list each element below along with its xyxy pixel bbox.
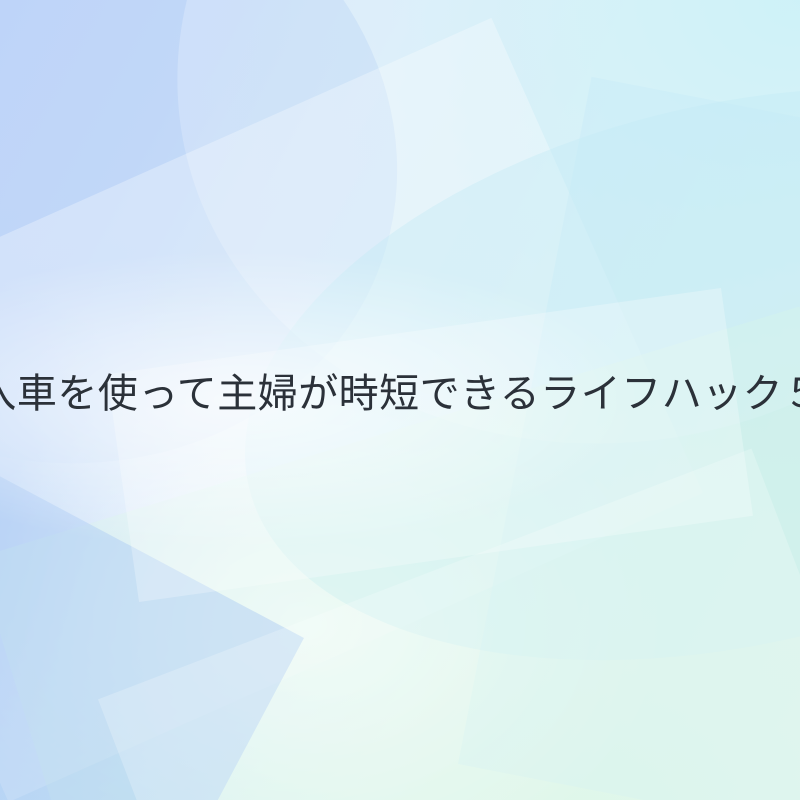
title-band: 輸入車を使って主婦が時短できるライフハック５選	[0, 0, 800, 800]
article-title: 輸入車を使って主婦が時短できるライフハック５選	[0, 374, 800, 414]
article-title-card: 輸入車を使って主婦が時短できるライフハック５選	[0, 0, 800, 800]
